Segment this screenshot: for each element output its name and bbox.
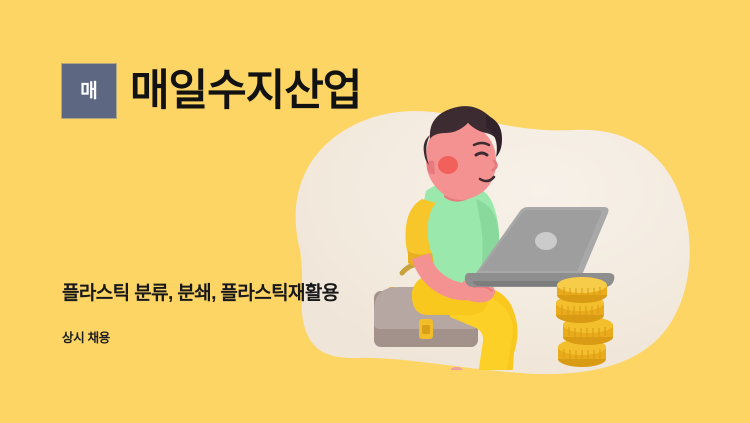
company-logo-badge: 매	[62, 64, 116, 118]
man-working-on-laptop-illustration	[330, 95, 660, 370]
job-status-label: 상시 채용	[62, 327, 339, 346]
job-posting-banner: 매 매일수지산업	[0, 0, 750, 423]
job-copy: 플라스틱 분류, 분쇄, 플라스틱재활용 상시 채용	[62, 283, 339, 346]
company-header: 매 매일수지산업	[62, 64, 361, 118]
company-logo-badge-text: 매	[80, 82, 97, 101]
job-title: 플라스틱 분류, 분쇄, 플라스틱재활용	[62, 283, 339, 306]
company-name: 매일수지산업	[130, 70, 361, 113]
coin-stack-icon	[556, 277, 613, 367]
